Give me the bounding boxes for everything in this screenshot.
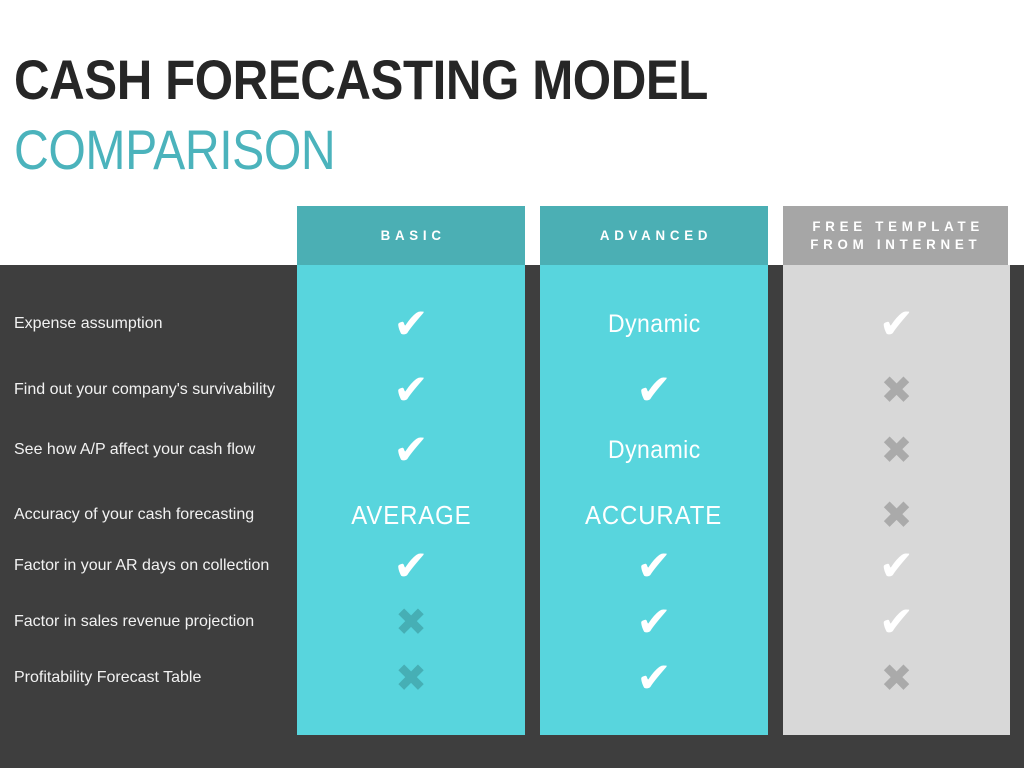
- cell-basic-row-2: ✔: [297, 364, 525, 416]
- check-icon: ✔: [636, 657, 671, 699]
- cell-advanced-row-7: ✔: [540, 652, 768, 704]
- row-label: Find out your company's survivability: [14, 368, 289, 412]
- cell-free-row-2: ✖: [783, 364, 1010, 416]
- cross-icon: ✖: [881, 371, 913, 409]
- row-label: Expense assumption: [14, 302, 289, 346]
- row-label: Accuracy of your cash forecasting: [14, 493, 289, 537]
- cell-value-text: Dynamic: [608, 310, 701, 339]
- check-icon: ✔: [879, 303, 914, 345]
- check-icon: ✔: [636, 369, 671, 411]
- cell-advanced-row-6: ✔: [540, 596, 768, 648]
- check-icon: ✔: [879, 545, 914, 587]
- cross-icon: ✖: [395, 603, 427, 641]
- column-header-basic[interactable]: BASIC: [297, 206, 525, 265]
- check-icon: ✔: [879, 601, 914, 643]
- cell-free-row-7: ✖: [783, 652, 1010, 704]
- column-header-advanced[interactable]: ADVANCED: [540, 206, 768, 265]
- cell-basic-row-4: AVERAGE: [297, 489, 525, 541]
- title-line-secondary: COMPARISON: [14, 122, 616, 178]
- row-label: See how A/P affect your cash flow: [14, 428, 289, 472]
- cell-basic-row-3: ✔: [297, 424, 525, 476]
- column-header-advanced-label: ADVANCED: [595, 227, 712, 245]
- cell-free-row-5: ✔: [783, 540, 1010, 592]
- comparison-slide: CASH FORECASTING MODEL COMPARISON BASIC …: [0, 0, 1024, 768]
- row-label: Profitability Forecast Table: [14, 656, 289, 700]
- page-title: CASH FORECASTING MODEL COMPARISON: [14, 52, 714, 178]
- cross-icon: ✖: [881, 431, 913, 469]
- cell-free-row-1: ✔: [783, 298, 1010, 350]
- column-header-free-template-label: FREE TEMPLATEFROM INTERNET: [807, 218, 983, 253]
- cell-value-text: AVERAGE: [351, 500, 471, 531]
- cross-icon: ✖: [881, 496, 913, 534]
- cell-basic-row-5: ✔: [297, 540, 525, 592]
- cell-advanced-row-3: Dynamic: [540, 424, 768, 476]
- cell-free-row-6: ✔: [783, 596, 1010, 648]
- check-icon: ✔: [393, 545, 428, 587]
- cell-basic-row-7: ✖: [297, 652, 525, 704]
- row-label: Factor in your AR days on collection: [14, 544, 289, 588]
- cell-value-text: Dynamic: [608, 436, 701, 465]
- check-icon: ✔: [636, 545, 671, 587]
- title-line-primary: CASH FORECASTING MODEL: [14, 52, 630, 108]
- cell-free-row-4: ✖: [783, 489, 1010, 541]
- check-icon: ✔: [393, 369, 428, 411]
- check-icon: ✔: [393, 429, 428, 471]
- cell-basic-row-6: ✖: [297, 596, 525, 648]
- cell-free-row-3: ✖: [783, 424, 1010, 476]
- cell-value-text: ACCURATE: [585, 500, 722, 531]
- column-header-basic-label: BASIC: [376, 227, 446, 245]
- cell-advanced-row-5: ✔: [540, 540, 768, 592]
- cell-advanced-row-1: Dynamic: [540, 298, 768, 350]
- cross-icon: ✖: [395, 659, 427, 697]
- row-label: Factor in sales revenue projection: [14, 600, 289, 644]
- column-header-free-template[interactable]: FREE TEMPLATEFROM INTERNET: [783, 206, 1008, 265]
- cell-advanced-row-2: ✔: [540, 364, 768, 416]
- check-icon: ✔: [393, 303, 428, 345]
- cell-basic-row-1: ✔: [297, 298, 525, 350]
- check-icon: ✔: [636, 601, 671, 643]
- cross-icon: ✖: [881, 659, 913, 697]
- cell-advanced-row-4: ACCURATE: [540, 489, 768, 541]
